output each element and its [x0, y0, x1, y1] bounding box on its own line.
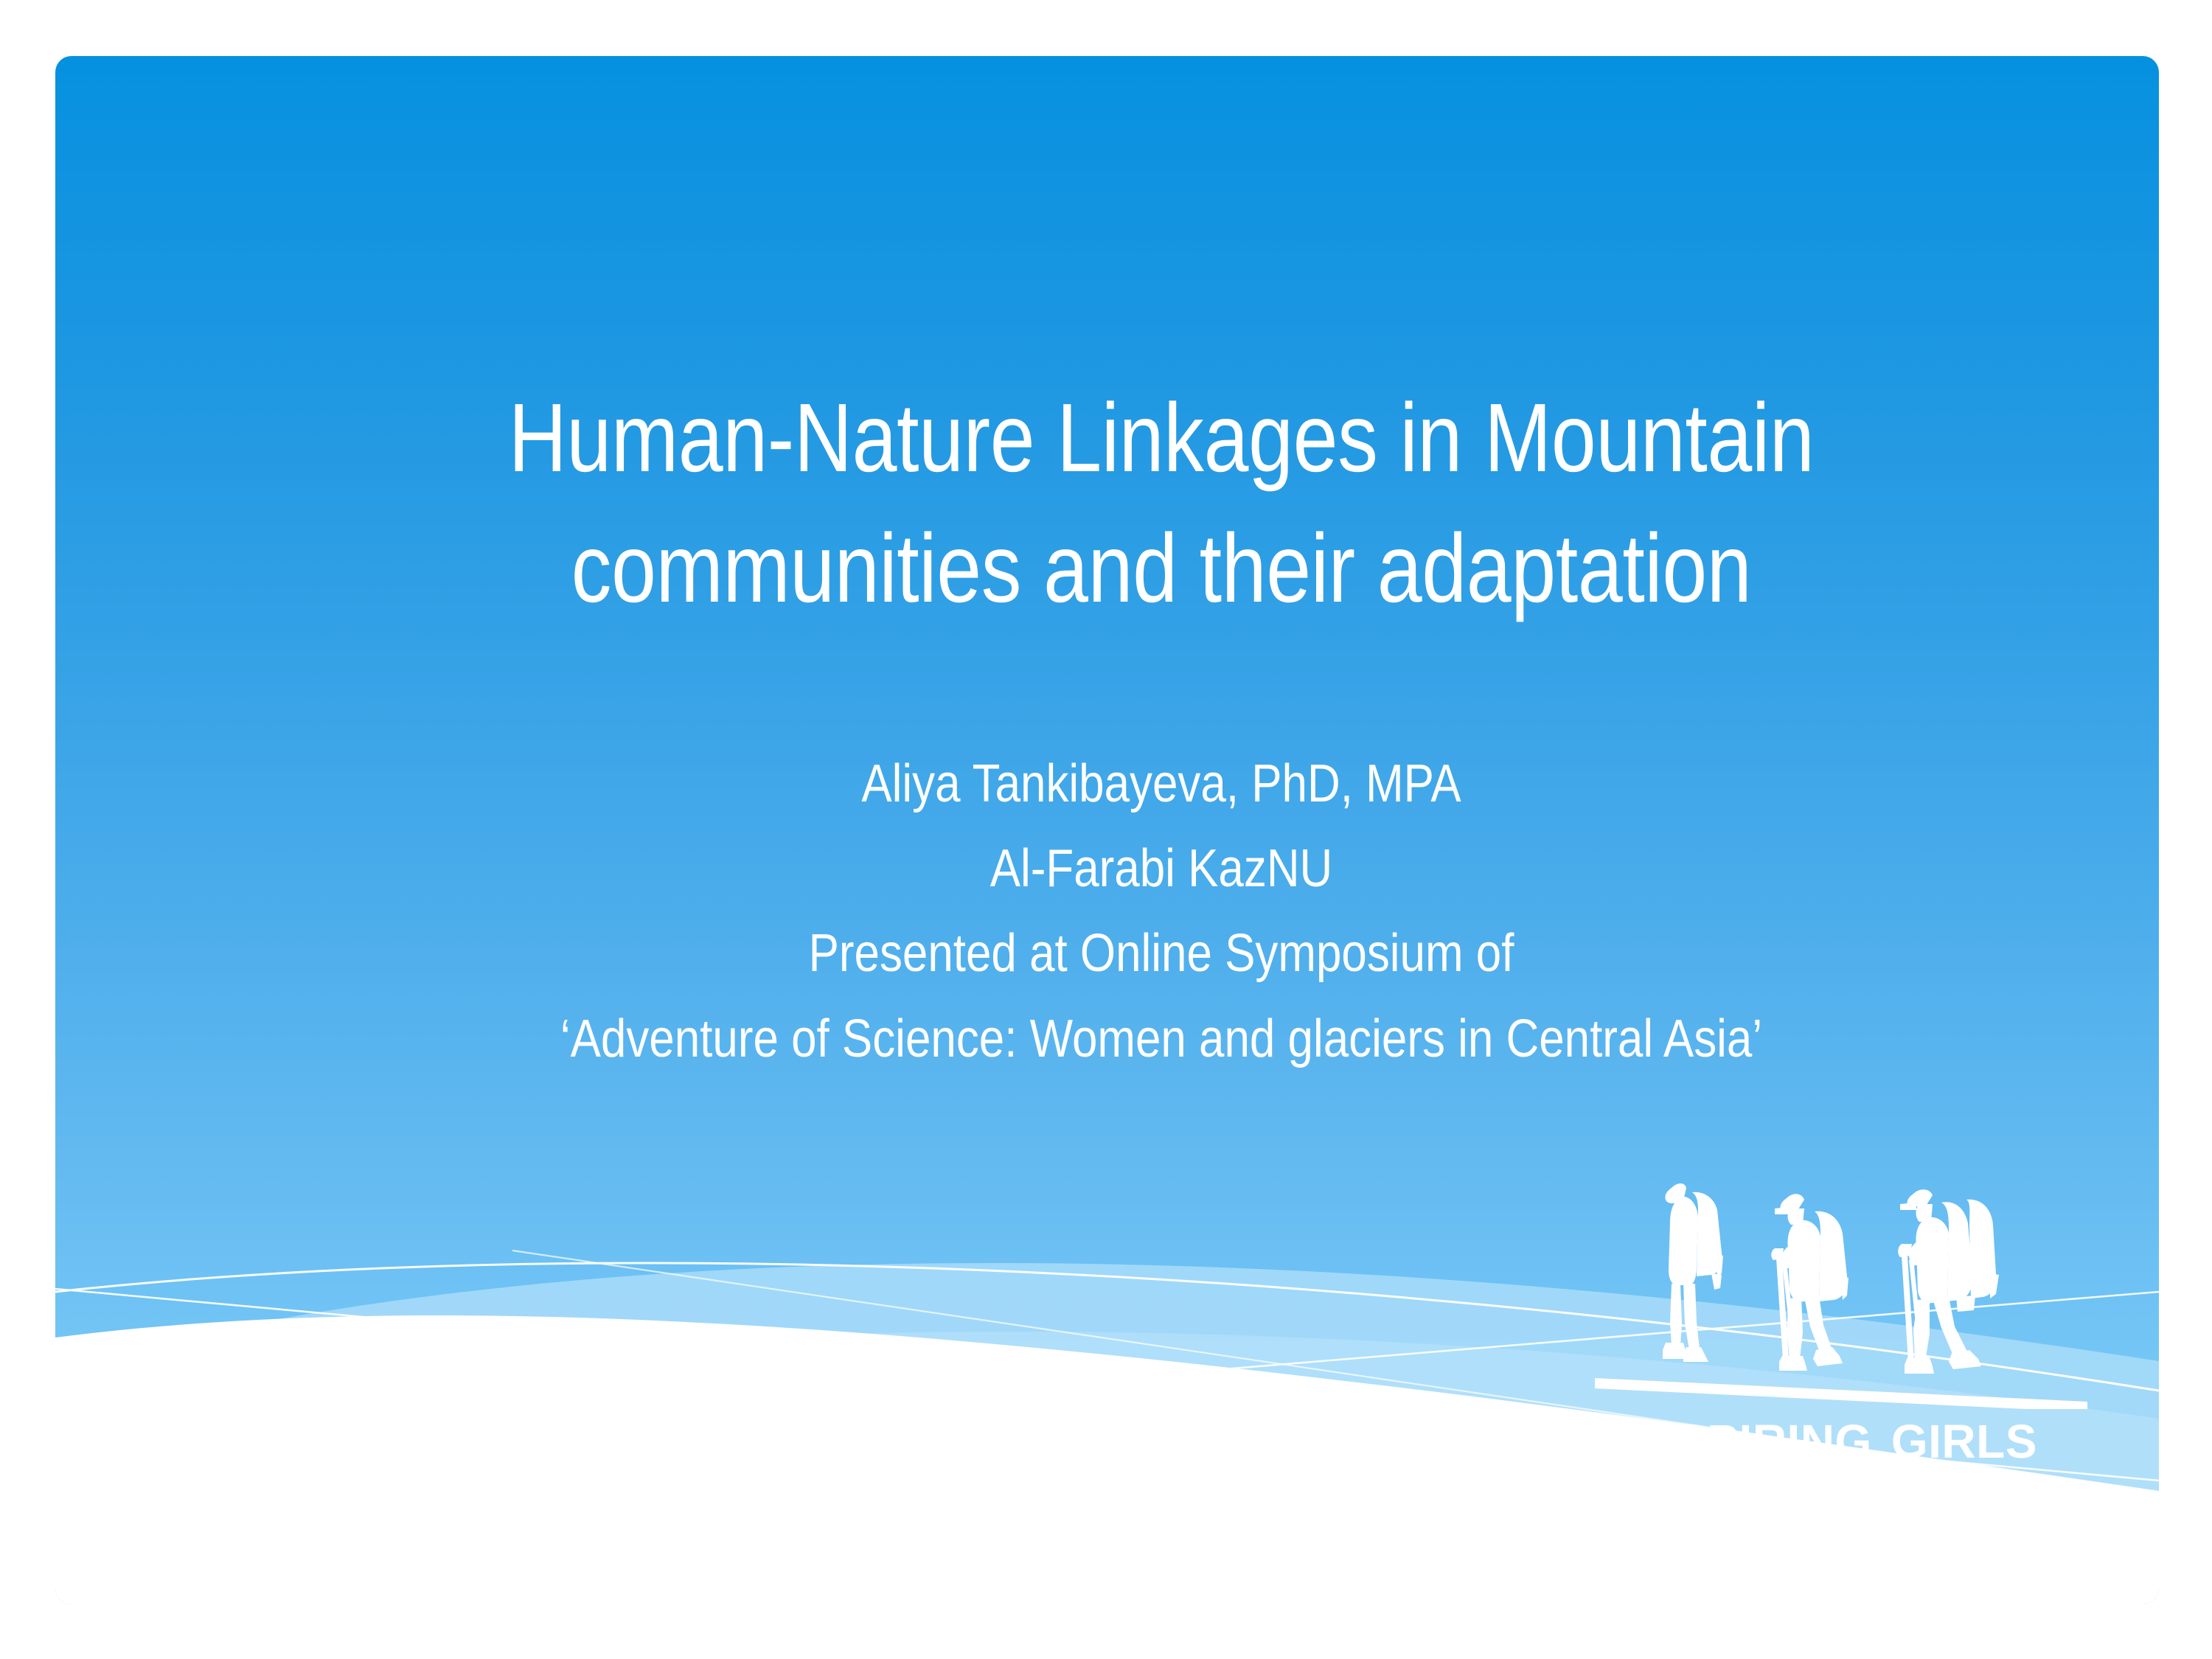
- logo-line-2: Expeditions: [1574, 1471, 2090, 1542]
- slide-blue-panel: Human-Nature Linkages in Mountain commun…: [55, 56, 2159, 1604]
- hikers-svg: [1589, 1166, 2090, 1409]
- presentation-slide: Human-Nature Linkages in Mountain commun…: [0, 0, 2212, 1659]
- slide-title: Human-Nature Linkages in Mountain commun…: [390, 373, 1933, 634]
- subtitle-line-event-intro: Presented at Online Symposium of: [362, 911, 1960, 996]
- subtitle-line-author: Aliya Tankibayeva, PhD, MPA: [362, 742, 1960, 827]
- logo-line-1: Inspiring Girls: [1574, 1400, 2090, 1471]
- hiker-silhouette-1: [1663, 1183, 1723, 1362]
- hikers-illustration: [1589, 1166, 2090, 1409]
- inspiring-girls-expeditions-logo: Inspiring Girls Expeditions: [1574, 1166, 2090, 1564]
- title-line-1: Human-Nature Linkages in Mountain: [390, 373, 1933, 504]
- title-line-2: communities and their adaptation: [390, 504, 1933, 634]
- slide-subtitle: Aliya Tankibayeva, PhD, MPA Al-Farabi Ka…: [362, 742, 1960, 1082]
- subtitle-line-affiliation: Al-Farabi KazNU: [362, 827, 1960, 911]
- subtitle-line-event-name: ‘Adventure of Science: Women and glacier…: [362, 997, 1960, 1082]
- logo-wordmark: Inspiring Girls Expeditions: [1574, 1400, 2090, 1541]
- hiker-silhouette-3: [1898, 1189, 1999, 1374]
- hiker-silhouette-2: [1771, 1194, 1848, 1371]
